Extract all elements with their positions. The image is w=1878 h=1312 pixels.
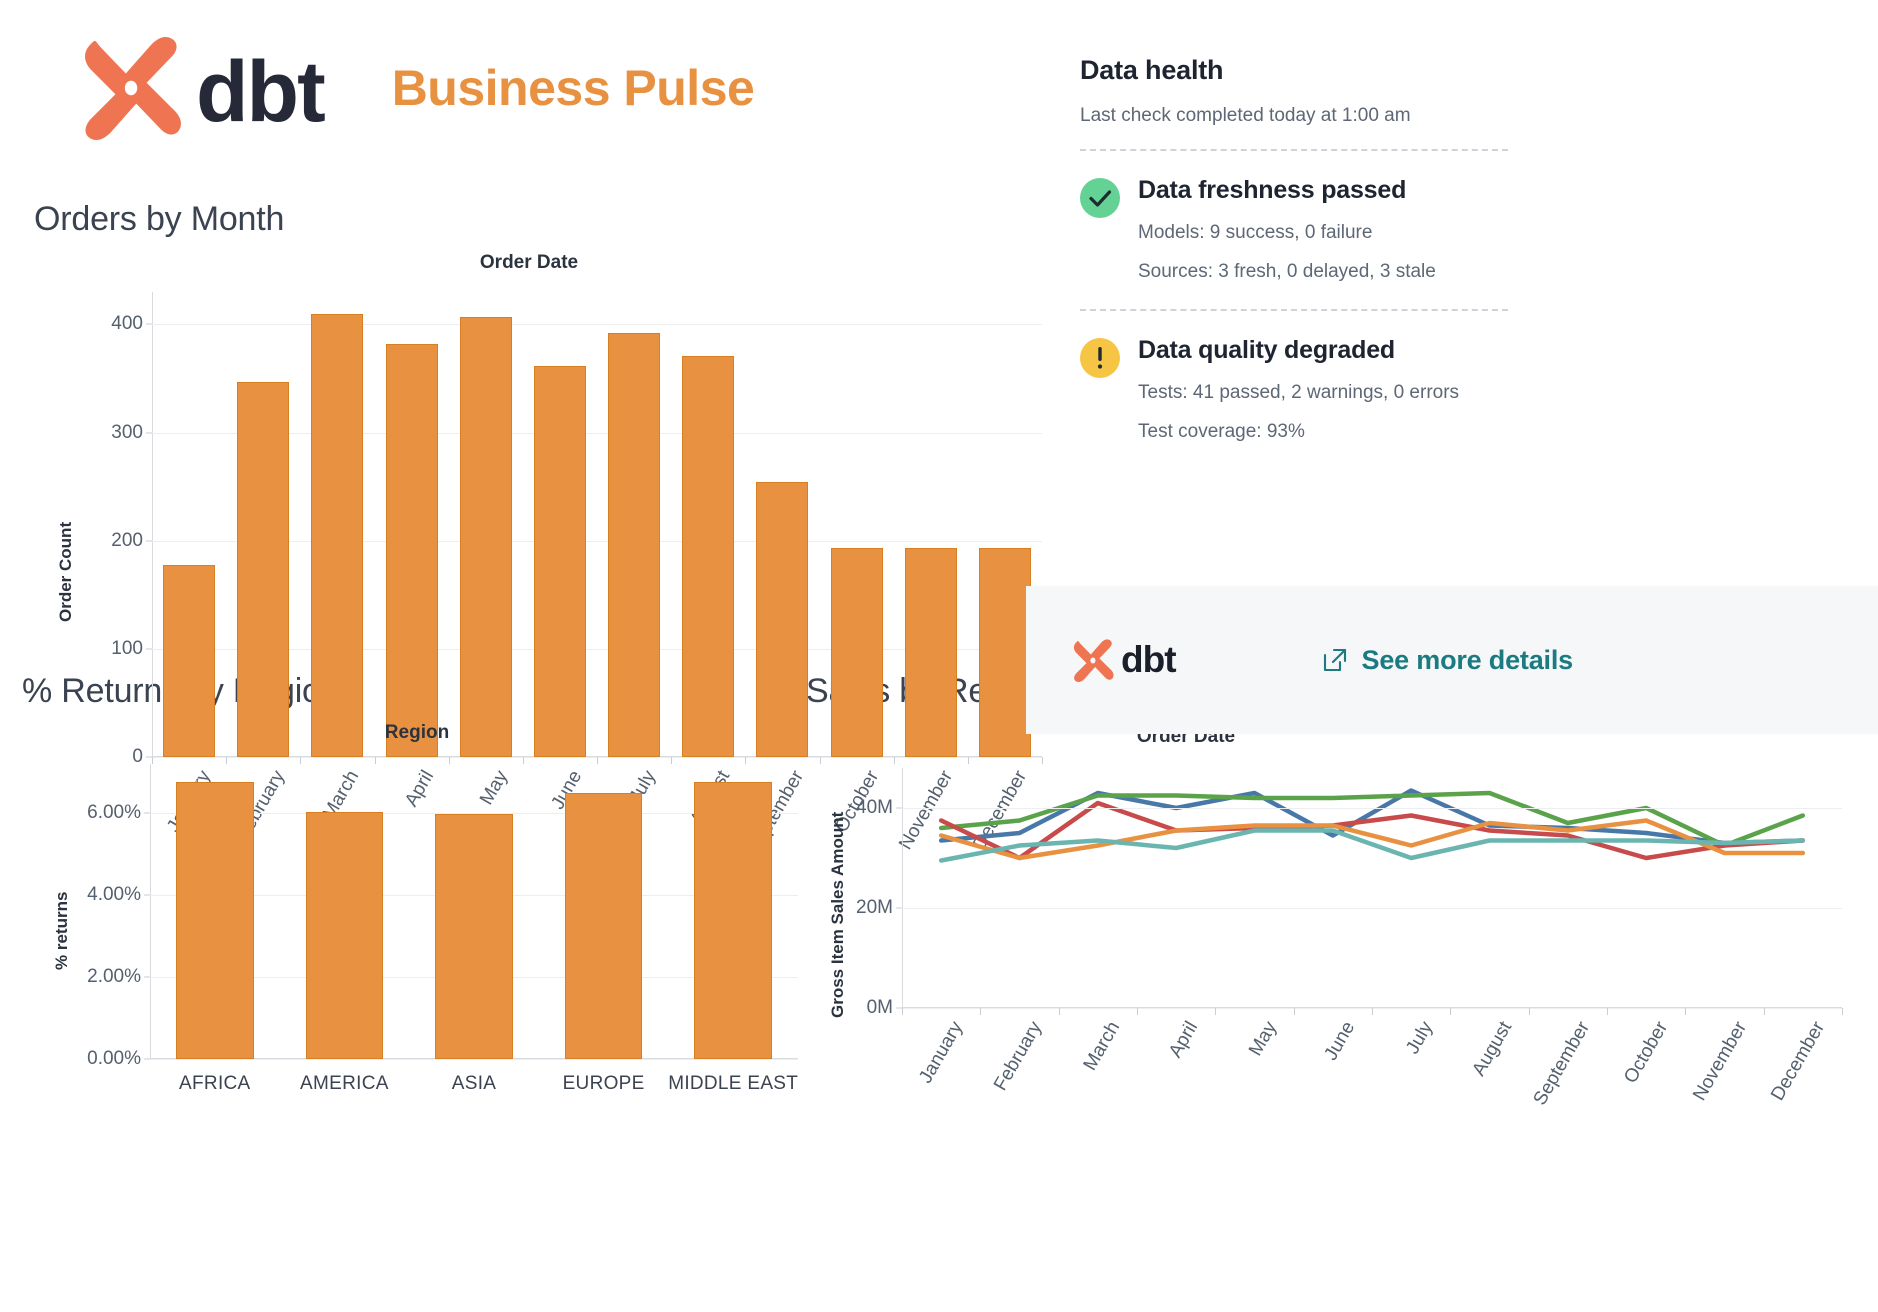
y-tick-label: 4.00% — [87, 884, 141, 906]
sales-series-svg — [902, 768, 1842, 1008]
x-tick-label: AFRICA — [179, 1073, 250, 1095]
y-tick-mark — [896, 808, 902, 809]
x-tick-label: November — [1689, 1018, 1752, 1105]
dbt-brand: dbt — [78, 36, 324, 140]
gridline — [152, 324, 1042, 325]
x-tick-mark — [980, 1008, 981, 1015]
x-tick-label: September — [1529, 1018, 1595, 1109]
y-tick-label: 100 — [111, 638, 143, 660]
data-health-item-freshness: Data freshness passed Models: 9 success,… — [1080, 175, 1870, 283]
see-more-details-link[interactable]: See more details — [1322, 645, 1573, 676]
y-tick-mark — [146, 648, 152, 649]
y-tick-label: 20M — [856, 897, 893, 919]
warning-circle-icon — [1080, 338, 1120, 378]
bar[interactable] — [237, 382, 289, 757]
data-health-title: Data health — [1080, 55, 1870, 86]
returns-by-region-chart: Region % returns 0.00%2.00%4.00%6.00%AFR… — [22, 722, 812, 1112]
y-tick-label: 0M — [867, 997, 893, 1019]
bar[interactable] — [386, 344, 438, 757]
x-tick-mark — [1685, 1008, 1686, 1015]
see-more-details-label: See more details — [1362, 645, 1573, 676]
page-header: dbt Business Pulse — [0, 0, 1260, 175]
x-tick-mark — [1059, 1008, 1060, 1015]
dbt-wordmark: dbt — [196, 49, 324, 135]
x-tick-label: December — [1767, 1018, 1830, 1105]
bar[interactable] — [306, 812, 384, 1059]
data-health-item-title: Data freshness passed — [1138, 175, 1436, 205]
divider — [1080, 309, 1508, 311]
bar[interactable] — [682, 356, 734, 757]
data-health-subtitle: Last check completed today at 1:00 am — [1080, 105, 1870, 127]
data-health-item-title: Data quality degraded — [1138, 335, 1459, 365]
x-tick-mark — [1529, 1008, 1530, 1015]
sales-plot-area: 0M20M40MJanuaryFebruaryMarchAprilMayJune… — [902, 768, 1842, 1008]
x-tick-mark — [1842, 1008, 1843, 1015]
x-tick-mark — [1607, 1008, 1608, 1015]
returns-y-axis — [150, 764, 151, 1059]
y-tick-mark — [146, 324, 152, 325]
orders-y-axis-label: Order Count — [56, 522, 76, 622]
x-tick-label: August — [1468, 1018, 1517, 1080]
data-health-panel: Data health Last check completed today a… — [1080, 55, 1870, 443]
bar[interactable] — [311, 314, 363, 757]
y-tick-mark — [144, 895, 150, 896]
y-tick-mark — [896, 908, 902, 909]
x-tick-mark — [902, 1008, 903, 1015]
x-tick-mark — [1294, 1008, 1295, 1015]
gridline — [902, 808, 1842, 809]
data-health-item-body: Data freshness passed Models: 9 success,… — [1138, 175, 1436, 283]
returns-chart-title: Region — [22, 722, 812, 744]
bar[interactable] — [176, 782, 254, 1059]
data-health-item-quality: Data quality degraded Tests: 41 passed, … — [1080, 335, 1870, 443]
sales-by-region-chart: Order Date Gross Item Sales Amount 0M20M… — [806, 726, 1866, 1116]
x-tick-mark — [1137, 1008, 1138, 1015]
y-tick-mark — [146, 432, 152, 433]
data-health-item-line: Sources: 3 fresh, 0 delayed, 3 stale — [1138, 261, 1436, 283]
y-tick-label: 6.00% — [87, 802, 141, 824]
bar[interactable] — [435, 814, 513, 1059]
y-tick-mark — [144, 977, 150, 978]
y-tick-mark — [146, 540, 152, 541]
dbt-x-logo-icon — [78, 36, 182, 140]
divider — [1080, 149, 1508, 151]
sales-y-axis-label: Gross Item Sales Amount — [828, 812, 848, 1018]
bar[interactable] — [460, 317, 512, 757]
y-tick-label: 40M — [856, 797, 893, 819]
see-more-details-card[interactable]: dbt See more details — [1026, 586, 1878, 734]
page-title: Business Pulse — [392, 59, 755, 117]
dbt-brand-small: dbt — [1071, 639, 1176, 682]
x-tick-mark — [1372, 1008, 1373, 1015]
orders-by-month-chart: Order Date Order Count 0100200300400Janu… — [34, 252, 1024, 642]
x-tick-label: October — [1620, 1018, 1673, 1088]
bar[interactable] — [756, 482, 808, 757]
y-tick-label: 400 — [111, 313, 143, 335]
bar[interactable] — [694, 782, 772, 1059]
orders-section-title: Orders by Month — [34, 200, 284, 239]
y-tick-label: 2.00% — [87, 966, 141, 988]
data-health-item-line: Test coverage: 93% — [1138, 421, 1459, 443]
bar[interactable] — [565, 793, 643, 1059]
orders-chart-title: Order Date — [34, 252, 1024, 274]
y-tick-label: 0.00% — [87, 1048, 141, 1070]
x-tick-label: February — [989, 1018, 1046, 1095]
x-tick-label: June — [1320, 1018, 1360, 1065]
gridline — [902, 908, 1842, 909]
x-tick-label: May — [1245, 1018, 1282, 1060]
x-tick-mark — [1764, 1008, 1765, 1015]
orders-y-axis — [152, 292, 153, 757]
y-tick-mark — [144, 1059, 150, 1060]
dbt-x-logo-icon — [1071, 639, 1114, 682]
data-health-item-body: Data quality degraded Tests: 41 passed, … — [1138, 335, 1459, 443]
x-tick-label: January — [915, 1018, 968, 1088]
y-tick-label: 200 — [111, 530, 143, 552]
y-tick-label: 300 — [111, 422, 143, 444]
data-health-item-line: Models: 9 success, 0 failure — [1138, 222, 1436, 244]
x-tick-label: ASIA — [452, 1073, 497, 1095]
orders-plot-area: 0100200300400JanuaryFebruaryMarchAprilMa… — [152, 292, 1042, 757]
dbt-wordmark: dbt — [1121, 639, 1176, 681]
x-tick-label: April — [1165, 1018, 1203, 1062]
external-link-icon — [1322, 647, 1348, 673]
bar[interactable] — [534, 366, 586, 757]
x-tick-mark — [1215, 1008, 1216, 1015]
x-tick-label: March — [1079, 1018, 1124, 1075]
returns-plot-area: 0.00%2.00%4.00%6.00%AFRICAAMERICAASIAEUR… — [150, 764, 798, 1059]
gridline — [150, 1059, 798, 1060]
y-tick-mark — [144, 813, 150, 814]
x-tick-label: MIDDLE EAST — [668, 1073, 798, 1095]
bar[interactable] — [608, 333, 660, 757]
check-circle-icon — [1080, 178, 1120, 218]
x-tick-mark — [1450, 1008, 1451, 1015]
x-tick-label: EUROPE — [563, 1073, 645, 1095]
x-tick-label: AMERICA — [300, 1073, 389, 1095]
returns-y-axis-label: % returns — [52, 892, 72, 970]
data-health-item-line: Tests: 41 passed, 2 warnings, 0 errors — [1138, 382, 1459, 404]
x-tick-label: July — [1402, 1018, 1438, 1058]
